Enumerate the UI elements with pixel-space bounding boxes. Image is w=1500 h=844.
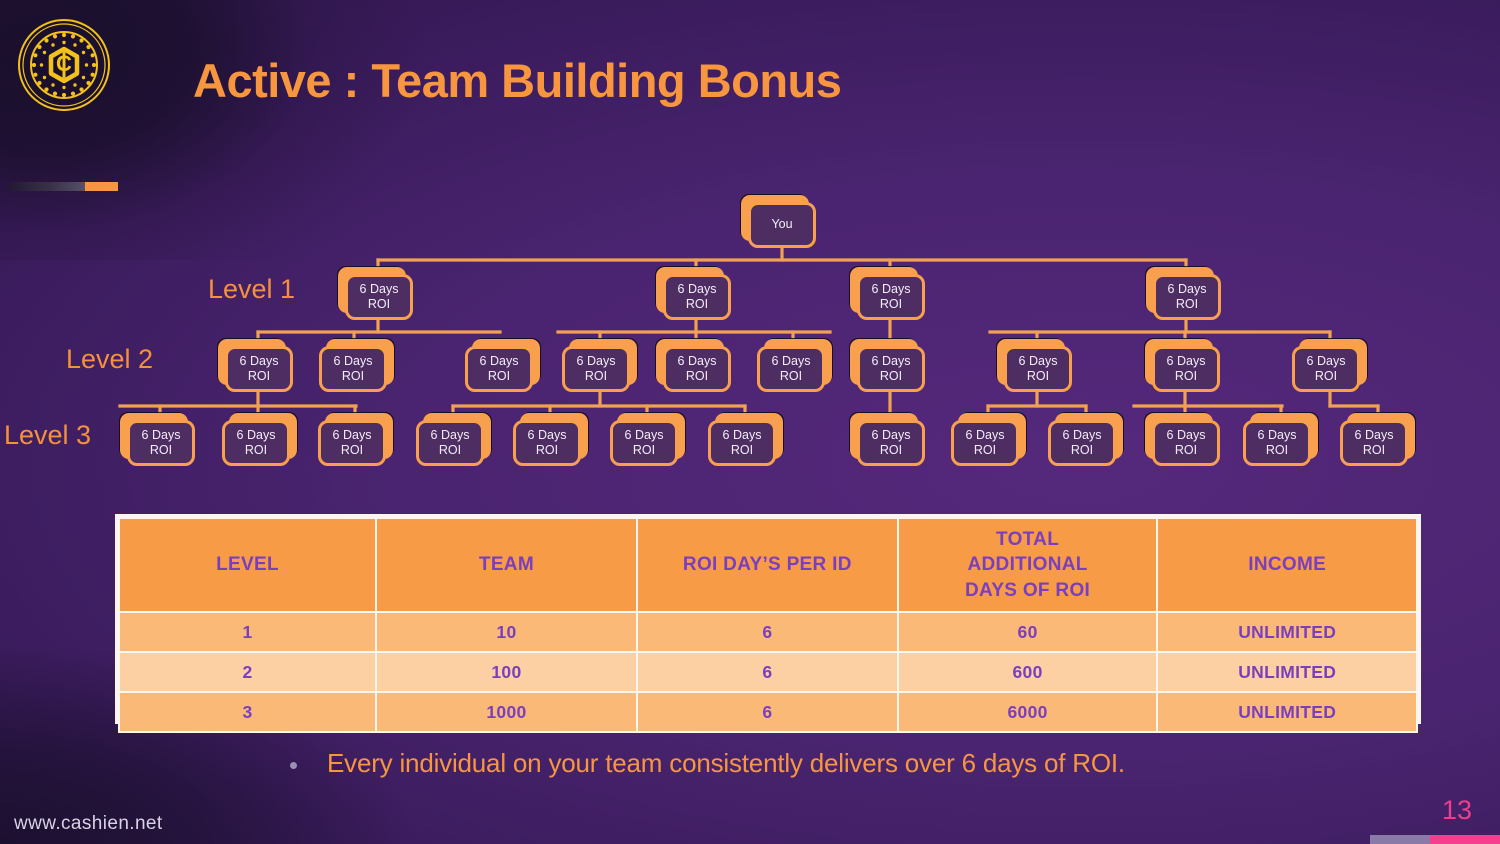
node-line-2: ROI	[880, 369, 902, 384]
node-line-1: 6 Days	[678, 354, 717, 369]
column-header-level: LEVEL	[119, 518, 376, 612]
node-line-1: 6 Days	[237, 428, 276, 443]
node-line-1: 6 Days	[333, 428, 372, 443]
header-line: TOTAL	[899, 527, 1157, 552]
header-line: INCOME	[1158, 552, 1416, 577]
cashien-circular-logo-icon: C	[17, 18, 111, 112]
node-line-1: 6 Days	[360, 282, 399, 297]
cell-income: UNLIMITED	[1157, 692, 1417, 732]
node-box: 6 Days ROI	[857, 420, 925, 466]
tree-node-l3-5[interactable]: 6 Days ROI	[513, 412, 589, 466]
note-text: Every individual on your team consistent…	[327, 748, 1125, 779]
page-number: 13	[1442, 795, 1472, 826]
svg-text:C: C	[56, 51, 72, 76]
node-box: 6 Days ROI	[1048, 420, 1116, 466]
node-line-2: ROI	[974, 443, 996, 458]
node-box: 6 Days ROI	[1004, 346, 1072, 392]
node-line-1: 6 Days	[723, 428, 762, 443]
tree-node-l3-11[interactable]: 6 Days ROI	[1144, 412, 1220, 466]
cell-roi-days: 6	[637, 652, 898, 692]
tree-node-l2-7[interactable]: 6 Days ROI	[849, 338, 925, 392]
node-line-1: 6 Days	[772, 354, 811, 369]
node-box: 6 Days ROI	[1340, 420, 1408, 466]
tree-node-l1-2[interactable]: 6 Days ROI	[655, 266, 731, 320]
node-box: 6 Days ROI	[708, 420, 776, 466]
node-line-2: ROI	[686, 297, 708, 312]
node-line-2: ROI	[686, 369, 708, 384]
cell-income: UNLIMITED	[1157, 612, 1417, 652]
tree-node-l2-8[interactable]: 6 Days ROI	[996, 338, 1072, 392]
node-line-1: 6 Days	[872, 354, 911, 369]
node-line-2: ROI	[1175, 443, 1197, 458]
tree-node-l1-1[interactable]: 6 Days ROI	[337, 266, 413, 320]
tree-node-l2-3[interactable]: 6 Days ROI	[465, 338, 541, 392]
tree-node-l3-8[interactable]: 6 Days ROI	[849, 412, 925, 466]
node-box: 6 Days ROI	[1152, 420, 1220, 466]
node-line-1: 6 Days	[480, 354, 519, 369]
node-line-1: 6 Days	[1019, 354, 1058, 369]
cell-total-days: 600	[898, 652, 1158, 692]
node-line-2: ROI	[536, 443, 558, 458]
tree-node-l2-10[interactable]: 6 Days ROI	[1292, 338, 1368, 392]
node-line-2: ROI	[1266, 443, 1288, 458]
website-url: www.cashien.net	[14, 813, 163, 835]
node-box: 6 Days ROI	[1153, 274, 1221, 320]
node-box: 6 Days ROI	[465, 346, 533, 392]
level-3-label: Level 3	[4, 420, 91, 451]
node-line-2: ROI	[1176, 297, 1198, 312]
node-line-1: 6 Days	[1167, 428, 1206, 443]
tree-node-l3-4[interactable]: 6 Days ROI	[416, 412, 492, 466]
node-line-2: ROI	[633, 443, 655, 458]
tree-node-l3-12[interactable]: 6 Days ROI	[1243, 412, 1319, 466]
header-line: LEVEL	[120, 552, 375, 577]
node-box: 6 Days ROI	[222, 420, 290, 466]
cell-team: 1000	[376, 692, 637, 732]
tree-node-l3-7[interactable]: 6 Days ROI	[708, 412, 784, 466]
cell-total-days: 60	[898, 612, 1158, 652]
column-header-income: INCOME	[1157, 518, 1417, 612]
tree-node-l2-4[interactable]: 6 Days ROI	[562, 338, 638, 392]
node-box: 6 Days ROI	[857, 346, 925, 392]
node-box: 6 Days ROI	[562, 346, 630, 392]
tree-node-l3-13[interactable]: 6 Days ROI	[1340, 412, 1416, 466]
tree-node-l1-4[interactable]: 6 Days ROI	[1145, 266, 1221, 320]
node-line-2: ROI	[150, 443, 172, 458]
node-line-2: ROI	[585, 369, 607, 384]
tree-node-l3-6[interactable]: 6 Days ROI	[610, 412, 686, 466]
node-box: 6 Days ROI	[857, 274, 925, 320]
tree-node-l2-9[interactable]: 6 Days ROI	[1144, 338, 1220, 392]
bullet-dot-icon	[290, 762, 297, 769]
node-box: 6 Days ROI	[319, 346, 387, 392]
tree-node-l3-9[interactable]: 6 Days ROI	[951, 412, 1027, 466]
node-line-2: ROI	[780, 369, 802, 384]
column-header-roi-days-per-id: ROI DAY’S PER ID	[637, 518, 898, 612]
node-line-1: 6 Days	[431, 428, 470, 443]
node-box: 6 Days ROI	[1292, 346, 1360, 392]
tree-node-l3-1[interactable]: 6 Days ROI	[119, 412, 195, 466]
node-line-1: 6 Days	[240, 354, 279, 369]
node-line-2: ROI	[731, 443, 753, 458]
node-line-2: ROI	[1315, 369, 1337, 384]
node-line-2: ROI	[248, 369, 270, 384]
cell-income: UNLIMITED	[1157, 652, 1417, 692]
bottom-bar-pink	[1430, 835, 1500, 844]
node-line-1: 6 Days	[1063, 428, 1102, 443]
node-box: 6 Days ROI	[318, 420, 386, 466]
tree-node-l3-10[interactable]: 6 Days ROI	[1048, 412, 1124, 466]
cell-team: 100	[376, 652, 637, 692]
node-line-1: 6 Days	[528, 428, 567, 443]
node-line-2: ROI	[1071, 443, 1093, 458]
node-box: 6 Days ROI	[663, 274, 731, 320]
node-line-1: 6 Days	[142, 428, 181, 443]
node-line-2: ROI	[488, 369, 510, 384]
node-line-2: ROI	[1363, 443, 1385, 458]
node-line-1: 6 Days	[966, 428, 1005, 443]
column-header-total-additional-days: TOTAL ADDITIONAL DAYS OF ROI	[898, 518, 1158, 612]
node-box: 6 Days ROI	[225, 346, 293, 392]
node-line-1: 6 Days	[1258, 428, 1297, 443]
header-line: TEAM	[377, 552, 636, 577]
tree-node-l3-2[interactable]: 6 Days ROI	[222, 412, 298, 466]
node-line-1: 6 Days	[872, 428, 911, 443]
cell-roi-days: 6	[637, 612, 898, 652]
cell-level: 3	[119, 692, 376, 732]
node-line-2: ROI	[880, 443, 902, 458]
node-box: 6 Days ROI	[663, 346, 731, 392]
node-box: 6 Days ROI	[1152, 346, 1220, 392]
header-line: ROI DAY’S PER ID	[638, 552, 897, 577]
page-title: Active : Team Building Bonus	[193, 53, 841, 108]
column-header-team: TEAM	[376, 518, 637, 612]
tree-node-l2-5[interactable]: 6 Days ROI	[655, 338, 731, 392]
node-line-2: ROI	[439, 443, 461, 458]
level-1-label: Level 1	[208, 274, 295, 305]
table-row: 2 100 6 600 UNLIMITED	[119, 652, 1417, 692]
node-line-2: ROI	[341, 443, 363, 458]
node-box: You	[748, 202, 816, 248]
cell-roi-days: 6	[637, 692, 898, 732]
node-box: 6 Days ROI	[345, 274, 413, 320]
table-row: 1 10 6 60 UNLIMITED	[119, 612, 1417, 652]
cell-team: 10	[376, 612, 637, 652]
table-row: 3 1000 6 6000 UNLIMITED	[119, 692, 1417, 732]
node-box: 6 Days ROI	[951, 420, 1019, 466]
node-box: 6 Days ROI	[127, 420, 195, 466]
tree-node-l2-1[interactable]: 6 Days ROI	[217, 338, 293, 392]
node-line-2: ROI	[342, 369, 364, 384]
table-header-row: LEVEL TEAM ROI DAY’S PER ID TOTAL ADDITI…	[119, 518, 1417, 612]
node-line-2: ROI	[368, 297, 390, 312]
node-root-label: You	[771, 217, 792, 232]
bottom-bar-gray	[1370, 835, 1430, 844]
tree-node-l2-2[interactable]: 6 Days ROI	[319, 338, 395, 392]
node-line-2: ROI	[1175, 369, 1197, 384]
node-line-2: ROI	[1027, 369, 1049, 384]
node-line-1: 6 Days	[577, 354, 616, 369]
cell-level: 1	[119, 612, 376, 652]
node-line-1: 6 Days	[1167, 354, 1206, 369]
tree-node-l1-3[interactable]: 6 Days ROI	[849, 266, 925, 320]
node-line-1: 6 Days	[1355, 428, 1394, 443]
node-line-1: 6 Days	[872, 282, 911, 297]
header-line: ADDITIONAL	[899, 552, 1157, 577]
node-box: 6 Days ROI	[416, 420, 484, 466]
cell-level: 2	[119, 652, 376, 692]
node-line-1: 6 Days	[1307, 354, 1346, 369]
note-bullet: Every individual on your team consistent…	[290, 748, 1290, 779]
header-line: DAYS OF ROI	[899, 578, 1157, 603]
node-line-1: 6 Days	[1168, 282, 1207, 297]
node-box: 6 Days ROI	[610, 420, 678, 466]
node-box: 6 Days ROI	[757, 346, 825, 392]
team-tree-diagram: Level 1 Level 2 Level 3 You 6 Days ROI 6…	[0, 180, 1500, 500]
node-line-2: ROI	[245, 443, 267, 458]
node-line-1: 6 Days	[678, 282, 717, 297]
bonus-table: LEVEL TEAM ROI DAY’S PER ID TOTAL ADDITI…	[115, 514, 1421, 724]
tree-node-l3-3[interactable]: 6 Days ROI	[318, 412, 394, 466]
tree-node-l2-6[interactable]: 6 Days ROI	[757, 338, 833, 392]
node-box: 6 Days ROI	[513, 420, 581, 466]
node-line-1: 6 Days	[334, 354, 373, 369]
tree-node-you[interactable]: You	[740, 194, 816, 248]
node-line-2: ROI	[880, 297, 902, 312]
level-2-label: Level 2	[66, 344, 153, 375]
node-line-1: 6 Days	[625, 428, 664, 443]
cell-total-days: 6000	[898, 692, 1158, 732]
node-box: 6 Days ROI	[1243, 420, 1311, 466]
